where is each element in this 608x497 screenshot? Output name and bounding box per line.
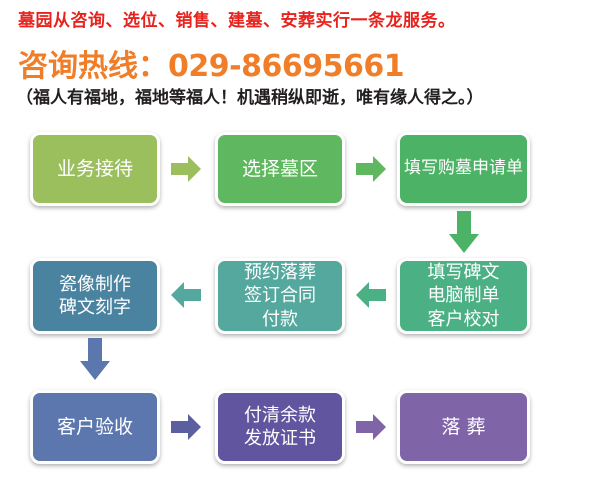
arrow-down-icon <box>78 338 112 380</box>
flow-node-burial[interactable]: 落 葬 <box>397 390 530 464</box>
arrow-down-icon <box>447 211 481 253</box>
hotline-label: 咨询热线： <box>18 49 168 84</box>
arrow-right-1 <box>171 154 201 184</box>
flow-node-booking-contract-payment[interactable]: 预约落葬 签订合同 付款 <box>215 258 345 334</box>
arrow-left-1 <box>356 280 386 310</box>
hotline-line: 咨询热线：029-86695661 <box>18 52 404 82</box>
flow-node-final-payment-certificate[interactable]: 付清余款 发放证书 <box>215 390 345 464</box>
arrow-right-icon <box>356 154 386 184</box>
arrow-right-icon <box>171 154 201 184</box>
arrow-left-icon <box>356 280 386 310</box>
arrow-right-icon <box>171 412 201 442</box>
flow-node-business-reception[interactable]: 业务接待 <box>30 132 160 206</box>
hotline-number[interactable]: 029-86695661 <box>168 49 404 84</box>
arrow-right-4 <box>356 412 386 442</box>
headline-service-text: 墓园从咨询、选位、销售、建墓、安葬实行一条龙服务。 <box>18 13 456 30</box>
arrow-right-3 <box>171 412 201 442</box>
arrow-left-2 <box>171 280 201 310</box>
arrow-right-icon <box>356 412 386 442</box>
flow-node-porcelain-portrait-engraving[interactable]: 瓷像制作 碑文刻字 <box>30 258 160 334</box>
slogan-text: （福人有福地，福地等福人！机遇稍纵即逝，唯有缘人得之。） <box>16 90 484 107</box>
arrow-down-2 <box>78 338 112 380</box>
arrow-down-1 <box>447 211 481 253</box>
flow-node-fill-purchase-application[interactable]: 填写购墓申请单 <box>397 132 530 206</box>
arrow-left-icon <box>171 280 201 310</box>
arrow-right-2 <box>356 154 386 184</box>
flow-node-inscription-proofread[interactable]: 填写碑文 电脑制单 客户校对 <box>397 258 530 334</box>
flowchart-page: 墓园从咨询、选位、销售、建墓、安葬实行一条龙服务。 咨询热线：029-86695… <box>0 0 608 497</box>
flow-node-customer-acceptance[interactable]: 客户验收 <box>30 390 160 464</box>
flow-node-select-cemetery-area[interactable]: 选择墓区 <box>215 132 345 206</box>
